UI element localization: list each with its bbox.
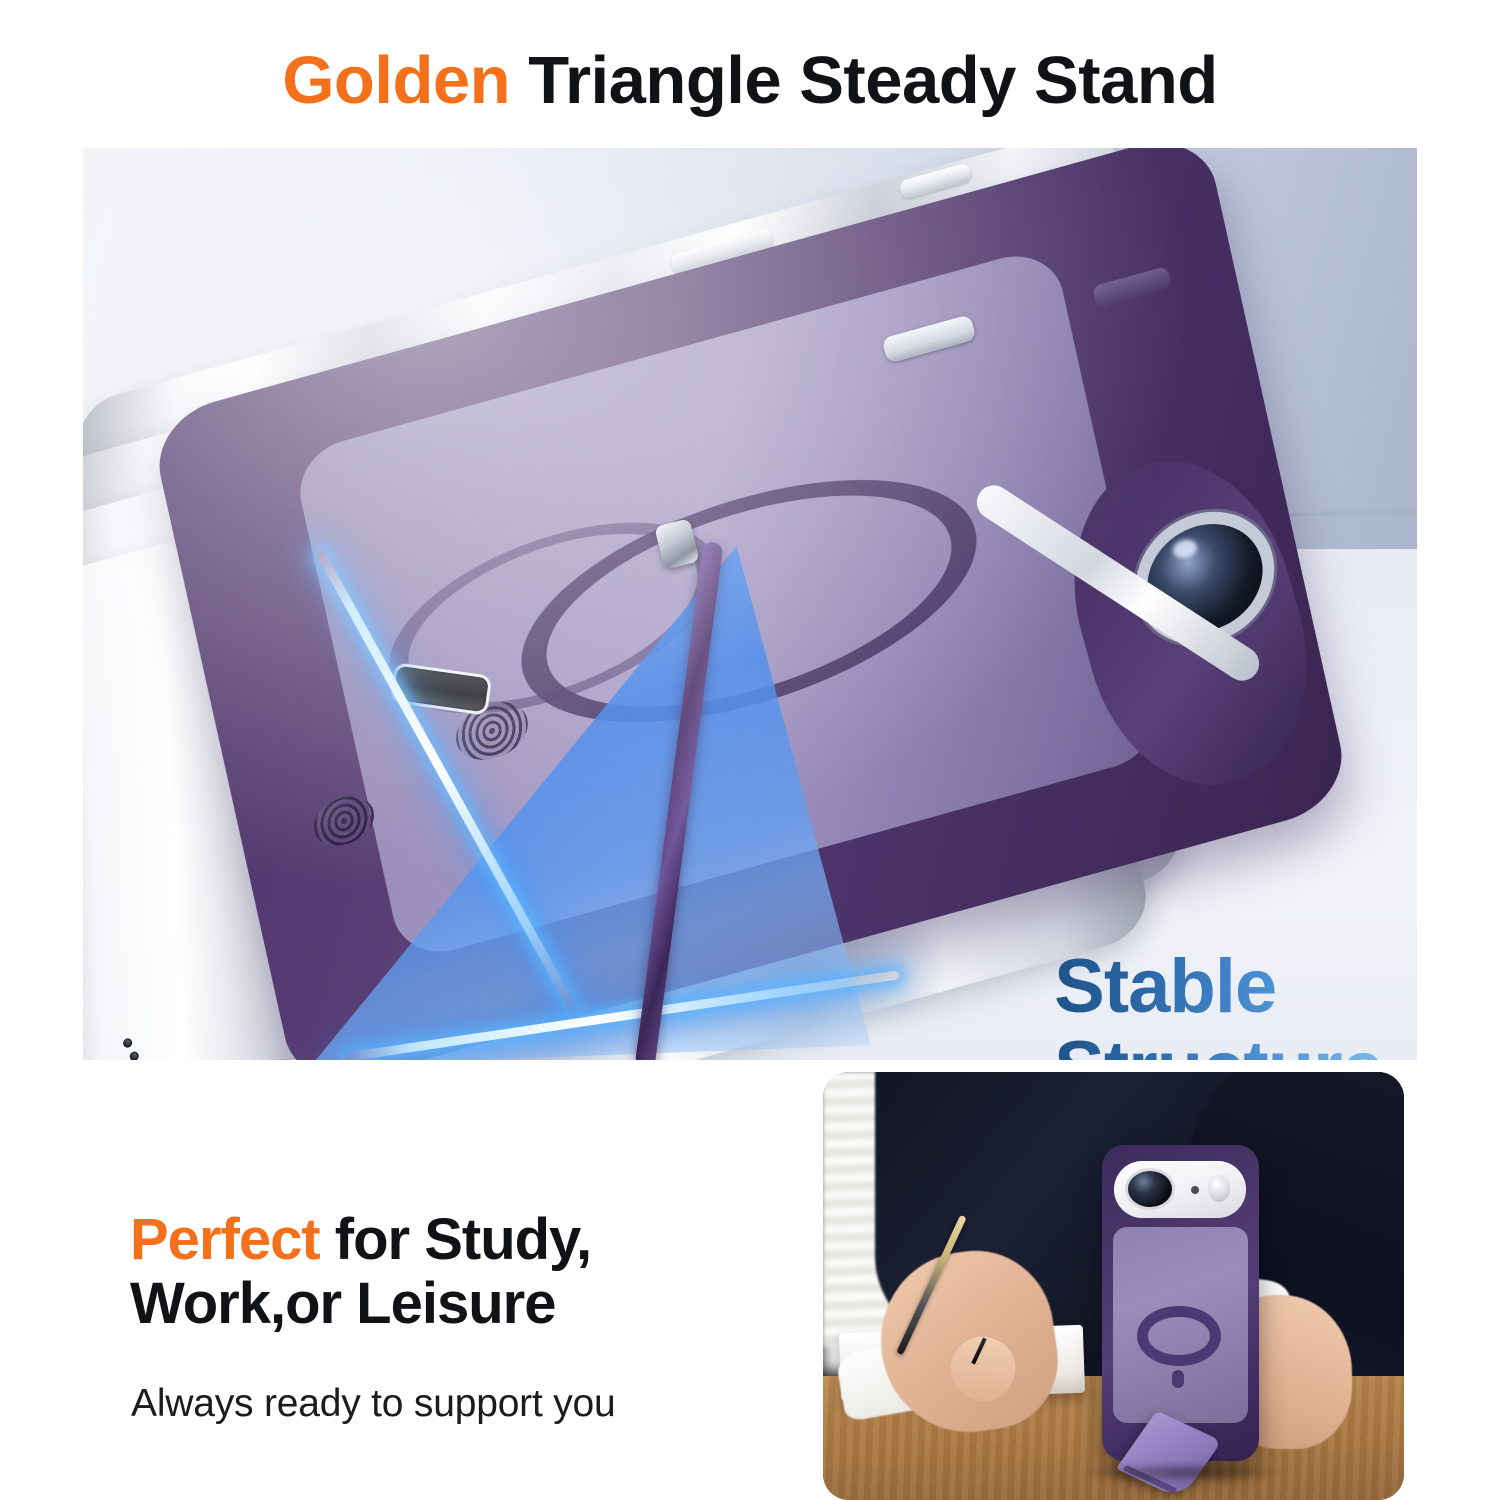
phone-with-case — [1102, 1145, 1259, 1462]
lifestyle-photo — [823, 1072, 1404, 1500]
camera-island — [1114, 1161, 1246, 1218]
kickstand-slot — [1172, 1370, 1184, 1388]
stable-line-2: Structure — [1054, 1028, 1383, 1060]
headline-rest: Triangle Steady Stand — [510, 43, 1218, 118]
bottom-headline-rest: for Study, — [320, 1207, 591, 1272]
hero-panel: Stable Structure — [83, 148, 1417, 1060]
bottom-headline: Perfect for Study, Work,or Leisure — [130, 1208, 830, 1336]
camera-lens-icon — [1128, 1171, 1173, 1207]
stable-structure-label: Stable Structure — [1054, 946, 1383, 1060]
case-back-plate — [1113, 1227, 1248, 1423]
bottom-headline-line2: Work,or Leisure — [130, 1272, 830, 1336]
bottom-subtitle: Always ready to support you — [131, 1382, 891, 1426]
bottom-headline-accent: Perfect — [130, 1207, 320, 1272]
magsafe-ring-icon — [1137, 1306, 1221, 1367]
product-marketing-image: Golden Triangle Steady Stand — [0, 0, 1500, 1500]
flash-icon — [1208, 1175, 1230, 1201]
headline-accent-word: Golden — [282, 43, 510, 118]
stable-line-1: Stable — [1054, 946, 1383, 1028]
page-title: Golden Triangle Steady Stand — [0, 42, 1500, 119]
microphone-icon — [1191, 1186, 1199, 1194]
phone-shadow — [1079, 1462, 1288, 1483]
